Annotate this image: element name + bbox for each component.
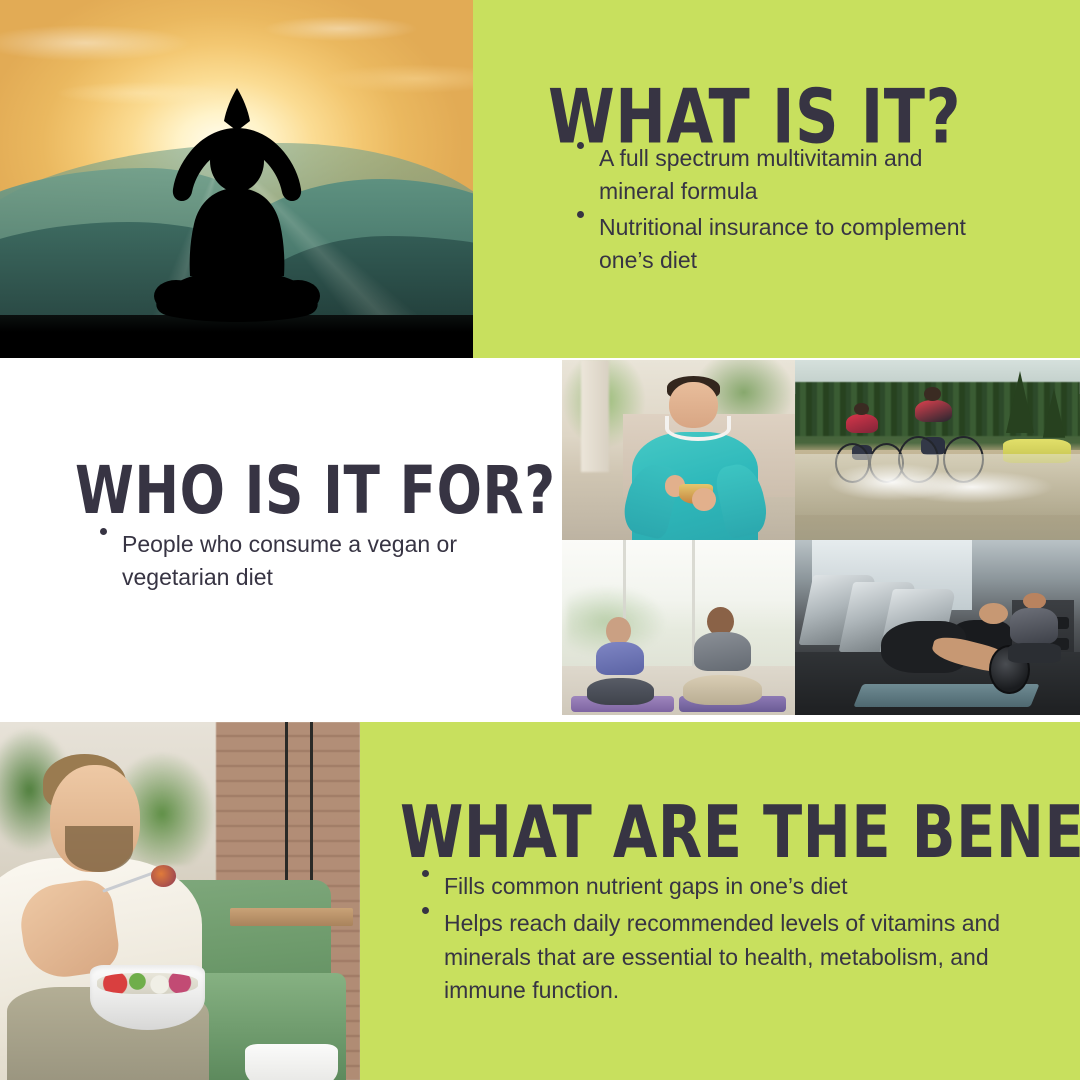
what-is-it-bullet-list: A full spectrum multivitamin and mineral… (573, 142, 973, 281)
who-is-it-for-bullet-list: People who consume a vegan or vegetarian… (96, 528, 466, 598)
healthy-eating-photo (562, 360, 795, 540)
gym-workout-photo (795, 540, 1080, 715)
meditating-silhouette-icon (142, 84, 332, 329)
list-item: People who consume a vegan or vegetarian… (96, 528, 466, 594)
list-item: Nutritional insurance to complement one’… (573, 211, 973, 276)
salad-eating-photo (0, 722, 360, 1080)
who-is-it-for-heading: WHO IS IT FOR? (75, 459, 556, 525)
list-item: A full spectrum multivitamin and mineral… (573, 142, 973, 207)
benefits-heading: WHAT ARE THE BENEFITS? (400, 798, 1080, 870)
list-item: Fills common nutrient gaps in one’s diet (418, 870, 1038, 903)
who-is-it-for-panel: WHO IS IT FOR? People who consume a vega… (0, 358, 562, 722)
benefits-panel: WHAT ARE THE BENEFITS? Fills common nutr… (360, 722, 1080, 1080)
list-item: Helps reach daily recommended levels of … (418, 907, 1038, 1007)
benefits-bullet-list: Fills common nutrient gaps in one’s diet… (418, 870, 1038, 1011)
mountain-biking-photo (795, 360, 1080, 540)
yoga-sunrise-photo (0, 0, 473, 358)
infographic-canvas: WHAT IS IT? A full spectrum multivitamin… (0, 0, 1080, 1080)
what-is-it-panel: WHAT IS IT? A full spectrum multivitamin… (473, 0, 1080, 358)
meditation-photo (562, 540, 795, 715)
lifestyle-photo-grid (562, 360, 1080, 715)
